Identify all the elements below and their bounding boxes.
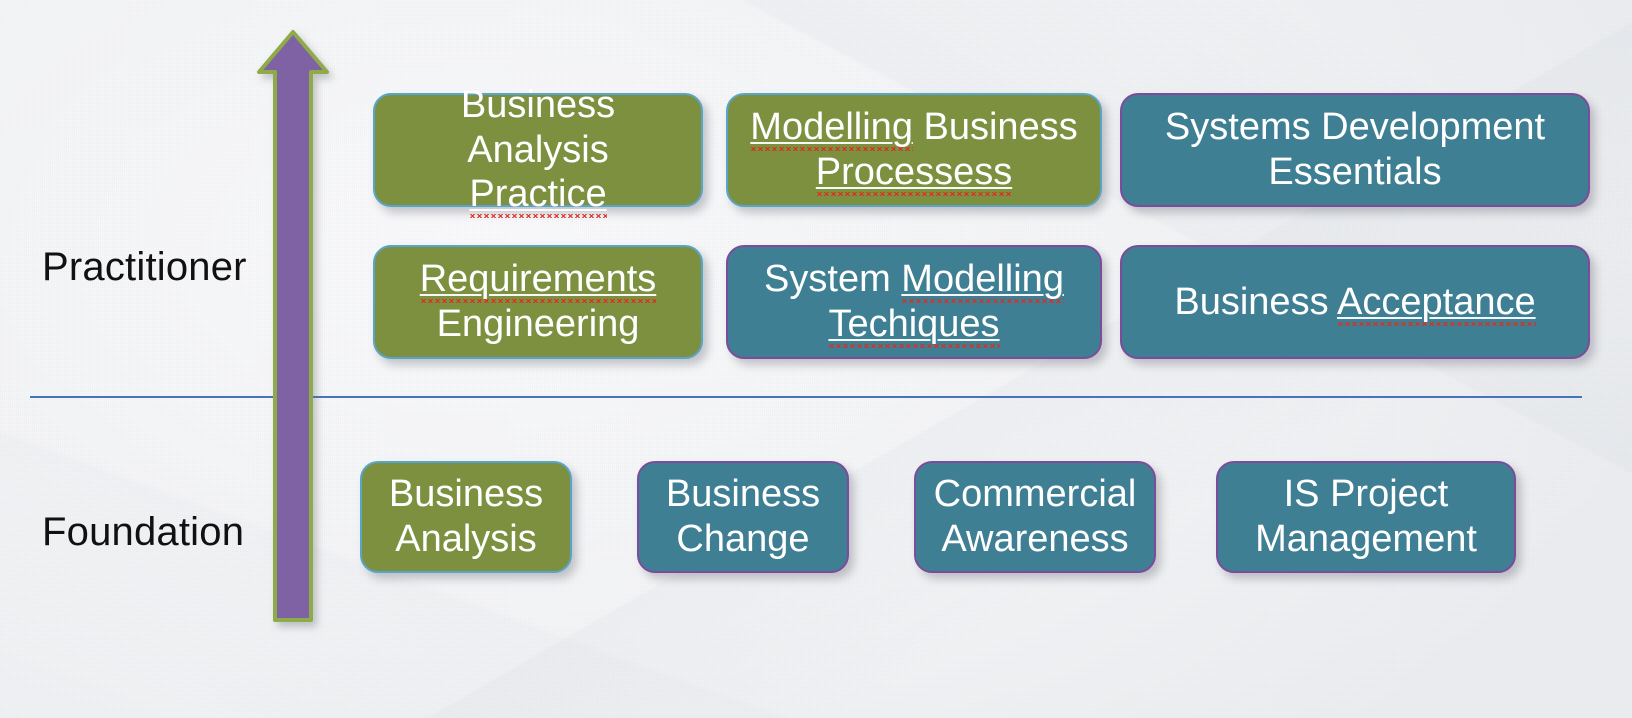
course-box-modelling-business-processess[interactable]: Modelling Business Processess: [726, 93, 1102, 207]
course-line-2: Change: [666, 517, 820, 562]
course-box-text: System Modelling Techiques: [764, 257, 1064, 347]
course-line-1: Business: [666, 472, 820, 517]
course-line-2: Practice: [387, 172, 689, 217]
course-box-systems-development-essentials[interactable]: Systems Development Essentials: [1120, 93, 1590, 207]
course-line-2: Processess: [750, 150, 1077, 195]
course-line-1: Business Acceptance: [1174, 280, 1535, 325]
course-box-system-modelling-techiques[interactable]: System Modelling Techiques: [726, 245, 1102, 359]
course-line-2: Analysis: [389, 517, 543, 562]
course-box-text: Commercial Awareness: [934, 472, 1137, 562]
course-line-2: Essentials: [1165, 150, 1545, 195]
course-box-text: Modelling Business Processess: [750, 105, 1077, 195]
course-box-text: Systems Development Essentials: [1165, 105, 1545, 195]
tier-label-foundation: Foundation: [42, 512, 244, 552]
tier-label-practitioner: Practitioner: [42, 247, 247, 287]
course-box-business-change[interactable]: Business Change: [637, 461, 849, 573]
course-line-1: IS Project: [1255, 472, 1477, 517]
course-box-requirements-engineering[interactable]: Requirements Engineering: [373, 245, 703, 359]
course-box-text: IS Project Management: [1255, 472, 1477, 562]
course-line-1: System Modelling: [764, 257, 1064, 302]
course-line-2: Engineering: [420, 302, 657, 347]
course-box-business-acceptance[interactable]: Business Acceptance: [1120, 245, 1590, 359]
slide-canvas: Practitioner Foundation Business Analysi…: [0, 0, 1632, 718]
course-line-2: Management: [1255, 517, 1477, 562]
course-box-text: Business Analysis: [389, 472, 543, 562]
course-line-1: Modelling Business: [750, 105, 1077, 150]
course-box-business-analysis[interactable]: Business Analysis: [360, 461, 572, 573]
course-line-1: Commercial: [934, 472, 1137, 517]
course-line-1: Requirements: [420, 257, 657, 302]
course-box-commercial-awareness[interactable]: Commercial Awareness: [914, 461, 1156, 573]
course-line-1: Business: [389, 472, 543, 517]
course-box-text: Business Acceptance: [1174, 280, 1535, 325]
course-line-1: Systems Development: [1165, 105, 1545, 150]
course-line-1: Business Analysis: [387, 83, 689, 173]
course-box-text: Business Analysis Practice: [387, 83, 689, 217]
course-line-2: Awareness: [934, 517, 1137, 562]
course-box-text: Requirements Engineering: [420, 257, 657, 347]
course-box-business-analysis-practice[interactable]: Business Analysis Practice: [373, 93, 703, 207]
course-box-text: Business Change: [666, 472, 820, 562]
course-box-is-project-management[interactable]: IS Project Management: [1216, 461, 1516, 573]
upward-progression-arrow: [253, 30, 345, 626]
course-line-2: Techiques: [764, 302, 1064, 347]
